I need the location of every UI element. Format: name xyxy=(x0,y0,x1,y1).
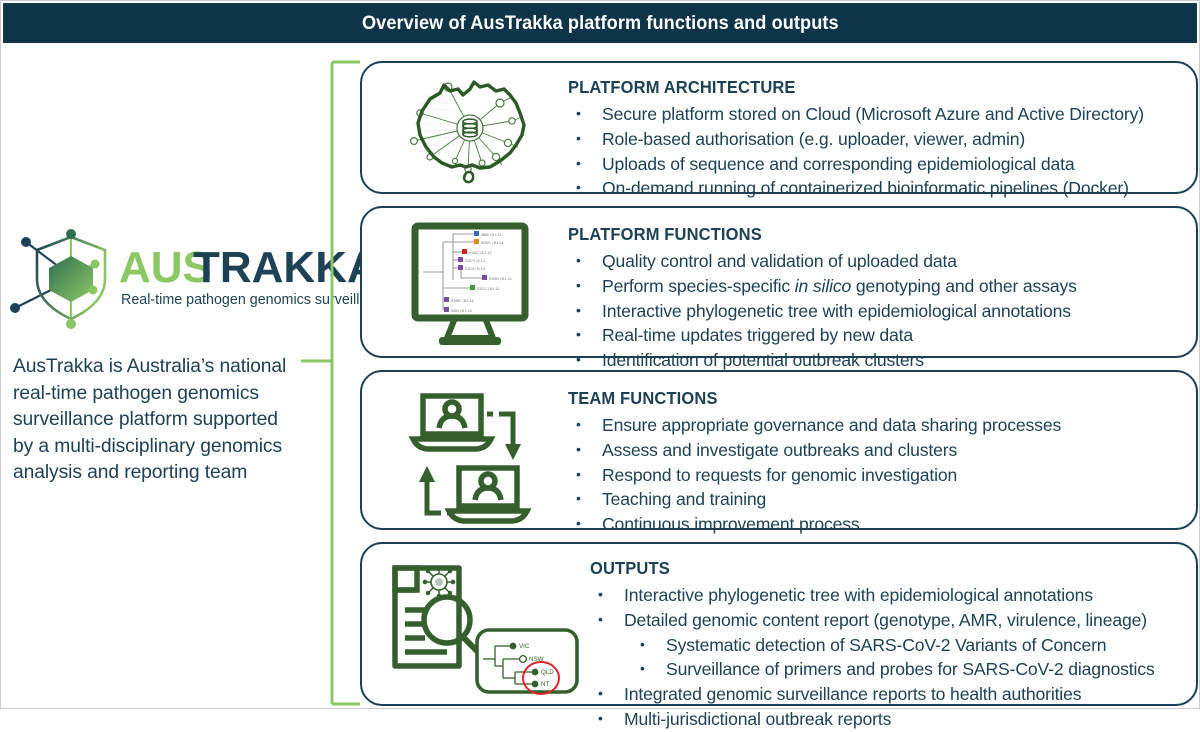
bullet-subitem: Surveillance of primers and probes for S… xyxy=(590,657,1188,682)
laptop-bottom-base xyxy=(449,511,527,521)
svg-text:S064 | B.1.13: S064 | B.1.13 xyxy=(451,309,472,313)
arrowhead-down xyxy=(505,444,521,460)
svg-text:S880 | B.1.13: S880 | B.1.13 xyxy=(481,233,502,237)
bullet-item: Continuous improvement process xyxy=(568,512,1188,537)
svg-text:S1007 | B.1.13: S1007 | B.1.13 xyxy=(469,251,491,255)
bullet-item: Secure platform stored on Cloud (Microso… xyxy=(568,102,1188,127)
bullet-list-outputs: Interactive phylogenetic tree with epide… xyxy=(590,583,1188,732)
svg-text:S1101 | B.1.9: S1101 | B.1.9 xyxy=(465,267,485,271)
bracket-graphic xyxy=(313,56,365,708)
svg-text:S1909 | B.1.13: S1909 | B.1.13 xyxy=(489,277,511,281)
italic-term: in silico xyxy=(795,276,851,296)
panel-title-outputs: OUTPUTS xyxy=(590,558,1164,579)
bullet-item: Interactive phylogenetic tree with epide… xyxy=(568,299,1188,324)
bullet-item: Interactive phylogenetic tree with epide… xyxy=(590,583,1188,608)
svg-text:VIC: VIC xyxy=(519,643,530,650)
svg-text:S0921 | B.1.14: S0921 | B.1.14 xyxy=(481,241,503,245)
svg-text:NT: NT xyxy=(541,681,549,688)
bullet-list-functions: Quality control and validation of upload… xyxy=(568,249,1188,373)
infographic-root: Overview of AusTrakka platform functions… xyxy=(0,0,1200,709)
australia-map-network-icon: ACGTTCAGGATCCAGTT TTGCAACGTACGGATCA CGAT… xyxy=(372,73,568,185)
intro-paragraph: AusTrakka is Australia’s national real-t… xyxy=(13,354,301,487)
panel-title-architecture: PLATFORM ARCHITECTURE xyxy=(568,77,1163,98)
panel-body-team: TEAM FUNCTIONS Ensure appropriate govern… xyxy=(568,382,1188,537)
bullet-item: Perform species-specific in silico genot… xyxy=(568,274,1188,299)
bullet-item: Integrated genomic surveillance reports … xyxy=(590,682,1188,707)
callout-box xyxy=(477,630,577,692)
arrowhead-up xyxy=(419,466,435,482)
virus-icon xyxy=(423,566,454,597)
bullet-item: Role-based authorisation (e.g. uploader,… xyxy=(568,127,1188,152)
bullet-item: Uploads of sequence and corresponding ep… xyxy=(568,152,1188,177)
bullet-item: Multi-jurisdictional outbreak reports xyxy=(590,707,1188,732)
panel-outputs[interactable]: VIC NSW QLD NT OUTPUTS Interactive phylo… xyxy=(360,542,1198,706)
bullet-item: Quality control and validation of upload… xyxy=(568,249,1188,274)
logo-hexagon xyxy=(49,256,93,302)
bullet-item: Teaching and training xyxy=(568,487,1188,512)
bullet-text-post: genotyping and other assays xyxy=(851,276,1077,296)
panel-team-functions[interactable]: TEAM FUNCTIONS Ensure appropriate govern… xyxy=(360,370,1198,530)
panel-platform-architecture[interactable]: ACGTTCAGGATCCAGTT TTGCAACGTACGGATCA CGAT… xyxy=(360,61,1198,194)
panel-body-outputs: OUTPUTS Interactive phylogenetic tree wi… xyxy=(590,554,1188,732)
arrow-left-up xyxy=(427,480,453,513)
svg-text:NSW: NSW xyxy=(529,656,544,663)
bullet-list-team: Ensure appropriate governance and data s… xyxy=(568,413,1188,537)
monitor-phylogenetic-tree-icon: S880 | B.1.13 S0921 | B.1.14 S1007 | B.1… xyxy=(372,218,568,348)
svg-text:S3081 | B.1.13: S3081 | B.1.13 xyxy=(451,299,473,303)
bullet-item: Ensure appropriate governance and data s… xyxy=(568,413,1188,438)
panel-body-functions: PLATFORM FUNCTIONS Quality control and v… xyxy=(568,218,1188,373)
bullet-item: Real-time updates triggered by new data xyxy=(568,323,1188,348)
two-laptops-collaboration-icon xyxy=(372,382,568,522)
panel-body-architecture: PLATFORM ARCHITECTURE Secure platform st… xyxy=(568,73,1188,201)
header-bar: Overview of AusTrakka platform functions… xyxy=(3,3,1197,43)
svg-text:S1012 | B.1.13: S1012 | B.1.13 xyxy=(477,287,499,291)
logo-graphic: AUS TRAKKA Real-time pathogen genomics s… xyxy=(9,224,309,334)
laptop-top-base xyxy=(413,439,491,449)
bullet-item: Respond to requests for genomic investig… xyxy=(568,463,1188,488)
bullet-subitem: Systematic detection of SARS-CoV-2 Varia… xyxy=(590,633,1188,658)
svg-text:QLD: QLD xyxy=(541,669,554,676)
svg-text:S1074 | A.1.3: S1074 | A.1.3 xyxy=(465,259,485,263)
page-title: Overview of AusTrakka platform functions… xyxy=(362,12,839,35)
bullet-item: On-demand running of containerized bioin… xyxy=(568,176,1188,201)
green-bracket xyxy=(313,56,365,708)
left-column: AUS TRAKKA Real-time pathogen genomics s… xyxy=(1,49,309,704)
panel-platform-functions[interactable]: S880 | B.1.13 S0921 | B.1.14 S1007 | B.1… xyxy=(360,206,1198,358)
bullet-list-architecture: Secure platform stored on Cloud (Microso… xyxy=(568,102,1188,201)
monitor-base xyxy=(439,337,501,345)
panel-title-team: TEAM FUNCTIONS xyxy=(568,388,1163,409)
bullet-text-pre: Perform species-specific xyxy=(602,276,795,296)
svg-text:TTGCAACGTACGGATCA: TTGCAACGTACGGATCA xyxy=(418,102,456,106)
bullet-item: Assess and investigate outbreaks and clu… xyxy=(568,438,1188,463)
panel-title-functions: PLATFORM FUNCTIONS xyxy=(568,224,1163,245)
bullet-item: Detailed genomic content report (genotyp… xyxy=(590,608,1188,633)
report-magnifier-tree-icon: VIC NSW QLD NT xyxy=(372,554,590,694)
austrakka-logo: AUS TRAKKA Real-time pathogen genomics s… xyxy=(9,224,309,334)
